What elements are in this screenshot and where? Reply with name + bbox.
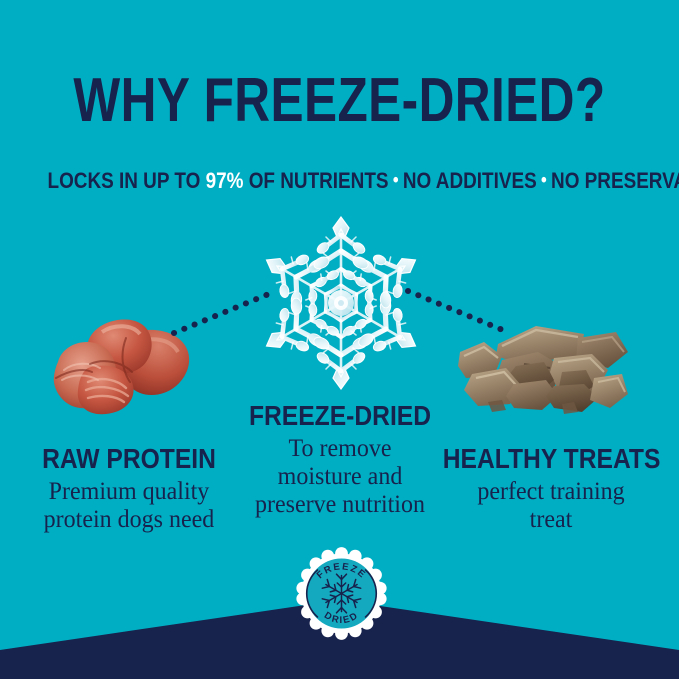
claim-no-additives: NO ADDITIVES <box>403 168 537 193</box>
feature-title: FREEZE-DRIED <box>231 400 449 432</box>
feature-freeze-dried: FREEZE-DRIED To remove moisture and pres… <box>216 400 464 519</box>
feature-healthy-treats: HEALTHY TREATS perfect training treat <box>428 443 674 534</box>
bullet-separator-icon: • <box>537 170 551 191</box>
feature-desc-line: perfect training <box>433 478 669 506</box>
feature-desc-line: To remove <box>221 435 459 463</box>
subtitle-part-1: LOCKS IN UP TO <box>48 168 206 193</box>
feature-title: HEALTHY TREATS <box>443 443 659 475</box>
page-title: WHY FREEZE-DRIED? <box>68 68 611 134</box>
nutrient-percentage: 97% <box>206 168 244 193</box>
feature-desc-line: protein dogs need <box>11 506 247 534</box>
subtitle-claims: LOCKS IN UP TO 97% OF NUTRIENTS•NO ADDIT… <box>48 168 632 196</box>
feature-desc-line: preserve nutrition <box>221 491 459 519</box>
freeze-dried-seal-badge: FREEZE DRIED <box>295 546 388 641</box>
feature-title: RAW PROTEIN <box>21 443 237 475</box>
feature-desc-line: treat <box>433 506 669 534</box>
feature-desc-line: Premium quality <box>11 478 247 506</box>
feature-description: To remove moisture and preserve nutritio… <box>221 435 459 519</box>
feature-description: Premium quality protein dogs need <box>11 478 247 534</box>
subtitle-part-2: OF NUTRIENTS <box>243 168 388 193</box>
claim-no-preservatives: NO PRESERVATIVES <box>551 168 679 193</box>
feature-desc-line: moisture and <box>221 463 459 491</box>
dotted-connector-line <box>170 285 280 337</box>
feature-description: perfect training treat <box>433 478 669 534</box>
bullet-separator-icon: • <box>389 170 403 191</box>
infographic-poster: WHY FREEZE-DRIED? LOCKS IN UP TO 97% OF … <box>0 0 679 679</box>
dotted-connector-line <box>404 285 514 337</box>
